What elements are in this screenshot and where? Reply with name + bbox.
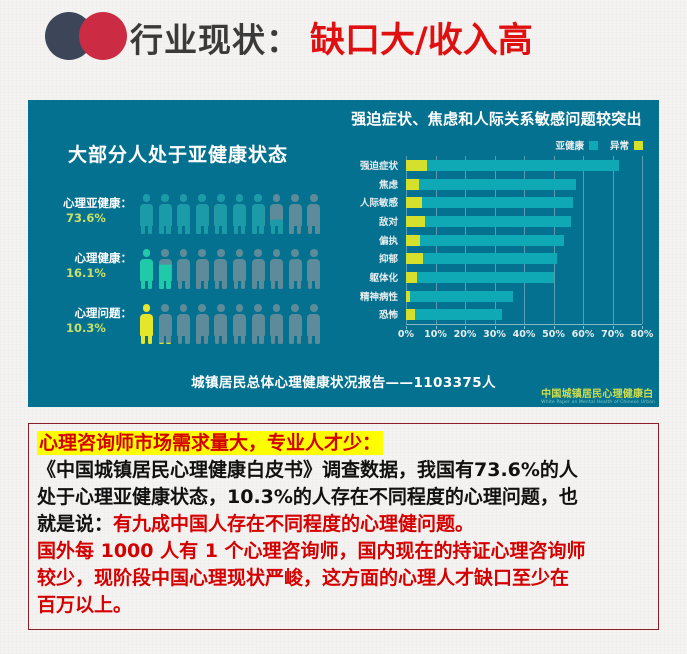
watermark-sub: White Paper on Mental Health of Chinese …: [541, 400, 655, 405]
person-icon: [252, 249, 265, 289]
person-icon: [159, 304, 172, 344]
bar-segment: [423, 253, 557, 264]
page-title-highlight: 缺口大/收入高: [310, 21, 533, 61]
x-axis-tick-label: 50%: [542, 329, 565, 340]
person-icon: [214, 249, 227, 289]
person-icon: [233, 194, 246, 234]
bar-category-label: 抑郁: [324, 251, 398, 265]
bar-category-label: 躯体化: [324, 270, 398, 284]
page-title: 行业现状：缺口大/收入高: [130, 12, 533, 63]
person-icon: [214, 304, 227, 344]
legend-item[interactable]: 亚健康: [555, 138, 598, 152]
x-axis-tick-label: 70%: [601, 329, 624, 340]
bar-row: [406, 197, 642, 208]
legend-swatch: [634, 141, 643, 150]
bar-chart: 强迫症状、焦虑和人际关系敏感问题较突出 亚健康异常 强迫症状焦虑人际敏感敌对偏执…: [328, 100, 659, 407]
bar-segment: [419, 179, 576, 190]
infographic-panel: 大部分人处于亚健康状态 心理亚健康：73.6%心理健康：16.1%心理问题：10…: [28, 100, 659, 407]
chart-legend: 亚健康异常: [555, 138, 643, 152]
bar-chart-plot-area: [406, 156, 642, 324]
person-icon: [289, 194, 302, 234]
textbox-line-5: 国外每 1000 人有 1 个心理咨询师，国内现在的持证心理咨询师: [37, 538, 650, 565]
watermark-main: 中国城镇居民心理健康白: [541, 389, 653, 400]
x-axis-tick-label: 40%: [513, 329, 536, 340]
person-icon: [159, 249, 172, 289]
textbox-line-2: 《中国城镇居民心理健康白皮书》调查数据，我国有73.6%的人: [37, 457, 650, 484]
pictogram-row-label: 心理问题：10.3%: [46, 306, 132, 336]
bar-chart-title: 强迫症状、焦虑和人际关系敏感问题较突出: [334, 108, 659, 129]
bar-row: [406, 160, 642, 171]
pictogram-row-name: 心理问题：: [46, 306, 132, 321]
bar-row: [406, 291, 642, 302]
summary-textbox: 心理咨询师市场需求量大，专业人才少： 《中国城镇居民心理健康白皮书》调查数据，我…: [28, 423, 659, 630]
watermark: 中国城镇居民心理健康白 White Paper on Mental Health…: [541, 385, 655, 405]
bar-row: [406, 179, 642, 190]
person-icon: [270, 194, 283, 234]
person-icon: [177, 194, 190, 234]
person-icon: [140, 194, 153, 234]
person-icon: [307, 194, 320, 234]
logo: [45, 12, 127, 60]
person-icon: [140, 304, 153, 344]
person-icon: [177, 249, 190, 289]
pictogram-rows: 心理亚健康：73.6%心理健康：16.1%心理问题：10.3%: [46, 194, 328, 359]
legend-label: 异常: [610, 138, 629, 152]
bar-row: [406, 235, 642, 246]
pictogram-row-name: 心理亚健康：: [46, 196, 132, 211]
person-icon: [252, 304, 265, 344]
chart-bars: [406, 156, 642, 324]
person-icon: [140, 249, 153, 289]
person-icon: [270, 249, 283, 289]
page-title-primary: 行业现状：: [130, 21, 300, 60]
textbox-line-3: 处于心理亚健康状态，10.3%的人存在不同程度的心理问题，也: [37, 484, 650, 511]
gridline: [642, 156, 643, 324]
pictogram-row: 心理健康：16.1%: [46, 249, 328, 293]
textbox-text-emphasis: 心理人才缺口至少在: [398, 567, 569, 589]
person-icon: [233, 304, 246, 344]
bar-category-label: 强迫症状: [324, 158, 398, 172]
x-axis-tick-label: 80%: [631, 329, 654, 340]
person-icon: [214, 194, 227, 234]
x-axis-line: [406, 324, 642, 325]
bar-segment: [427, 160, 620, 171]
bar-segment: [425, 216, 571, 227]
bar-segment: [420, 235, 564, 246]
textbox-text-emphasis: 国外每 1000 人有 1 个心理咨询师，国内现在的持证心理咨询师: [37, 540, 586, 562]
bar-segment: [410, 291, 513, 302]
pictogram-row-percent: 10.3%: [46, 321, 132, 336]
pictogram-icon-group: [140, 249, 328, 291]
bar-segment: [422, 197, 573, 208]
person-icon: [196, 194, 209, 234]
person-icon: [307, 304, 320, 344]
person-icon: [270, 304, 283, 344]
person-icon: [196, 249, 209, 289]
textbox-text-emphasis: 有九成中国人存在不同程度的心理健问题。: [113, 513, 474, 535]
textbox-line-6: 较少，现阶段中国心理现状严峻，这方面的心理人才缺口至少在: [37, 565, 650, 592]
bar-segment: [406, 309, 415, 320]
pictogram-row-percent: 73.6%: [46, 211, 132, 226]
bar-category-label: 恐怖: [324, 307, 398, 321]
x-axis-tick-label: 30%: [483, 329, 506, 340]
x-axis-tick-label: 0%: [398, 329, 414, 340]
bar-segment: [406, 253, 423, 264]
bar-segment: [406, 216, 425, 227]
pictogram-chart: 大部分人处于亚健康状态 心理亚健康：73.6%心理健康：16.1%心理问题：10…: [28, 100, 328, 407]
bar-chart-category-labels: 强迫症状焦虑人际敏感敌对偏执抑郁躯体化精神病性恐怖: [328, 156, 402, 324]
bar-segment: [406, 272, 417, 283]
bar-row: [406, 272, 642, 283]
legend-swatch: [589, 141, 598, 150]
bar-row: [406, 216, 642, 227]
person-icon: [289, 304, 302, 344]
bar-category-label: 偏执: [324, 233, 398, 247]
bar-category-label: 敌对: [324, 214, 398, 228]
bar-category-label: 人际敏感: [324, 195, 398, 209]
person-icon: [177, 304, 190, 344]
x-axis-tick-labels: 0%10%20%30%40%50%60%70%80%: [406, 326, 642, 342]
textbox-text: 处于心理亚健康状态，10.3%的人存在不同程度的心理问题，也: [37, 486, 578, 508]
bar-category-label: 焦虑: [324, 177, 398, 191]
bar-category-label: 精神病性: [324, 289, 398, 303]
logo-circle-red-icon: [79, 12, 127, 60]
bar-segment: [415, 309, 502, 320]
legend-label: 亚健康: [555, 138, 584, 152]
bar-row: [406, 253, 642, 264]
bar-segment: [406, 160, 427, 171]
textbox-heading-highlight: 心理咨询师市场需求量大，专业人才少：: [37, 431, 383, 455]
bar-segment: [417, 272, 554, 283]
pictogram-row: 心理问题：10.3%: [46, 304, 328, 348]
person-icon: [233, 249, 246, 289]
legend-item[interactable]: 异常: [610, 138, 643, 152]
pictogram-row: 心理亚健康：73.6%: [46, 194, 328, 238]
pictogram-row-label: 心理亚健康：73.6%: [46, 196, 132, 226]
x-axis-tick-label: 60%: [572, 329, 595, 340]
person-icon: [307, 249, 320, 289]
bar-segment: [406, 179, 419, 190]
bar-segment: [406, 235, 420, 246]
textbox-text-emphasis: 百万以上。: [37, 594, 132, 616]
textbox-text: 较少，现阶段中国心理现状严峻，这方面的: [37, 567, 398, 589]
textbox-line-7: 百万以上。: [37, 592, 650, 619]
pictogram-icon-group: [140, 304, 328, 346]
pictogram-title: 大部分人处于亚健康状态: [28, 140, 328, 167]
textbox-text: 《中国城镇居民心理健康白皮书》调查数据，我国有73.6%的人: [37, 459, 578, 481]
bar-row: [406, 309, 642, 320]
person-icon: [252, 194, 265, 234]
pictogram-row-name: 心理健康：: [46, 251, 132, 266]
person-icon: [289, 249, 302, 289]
pictogram-row-label: 心理健康：16.1%: [46, 251, 132, 281]
slide-header: 行业现状：缺口大/收入高: [0, 0, 687, 88]
x-axis-tick-label: 20%: [454, 329, 477, 340]
textbox-text: 就是说：: [37, 513, 113, 535]
bar-segment: [406, 197, 422, 208]
person-icon: [196, 304, 209, 344]
textbox-line-4: 就是说：有九成中国人存在不同程度的心理健问题。: [37, 511, 650, 538]
pictogram-row-percent: 16.1%: [46, 266, 132, 281]
person-icon: [159, 194, 172, 234]
textbox-line-1: 心理咨询师市场需求量大，专业人才少：: [37, 430, 650, 457]
x-axis-tick-label: 10%: [424, 329, 447, 340]
pictogram-icon-group: [140, 194, 328, 236]
